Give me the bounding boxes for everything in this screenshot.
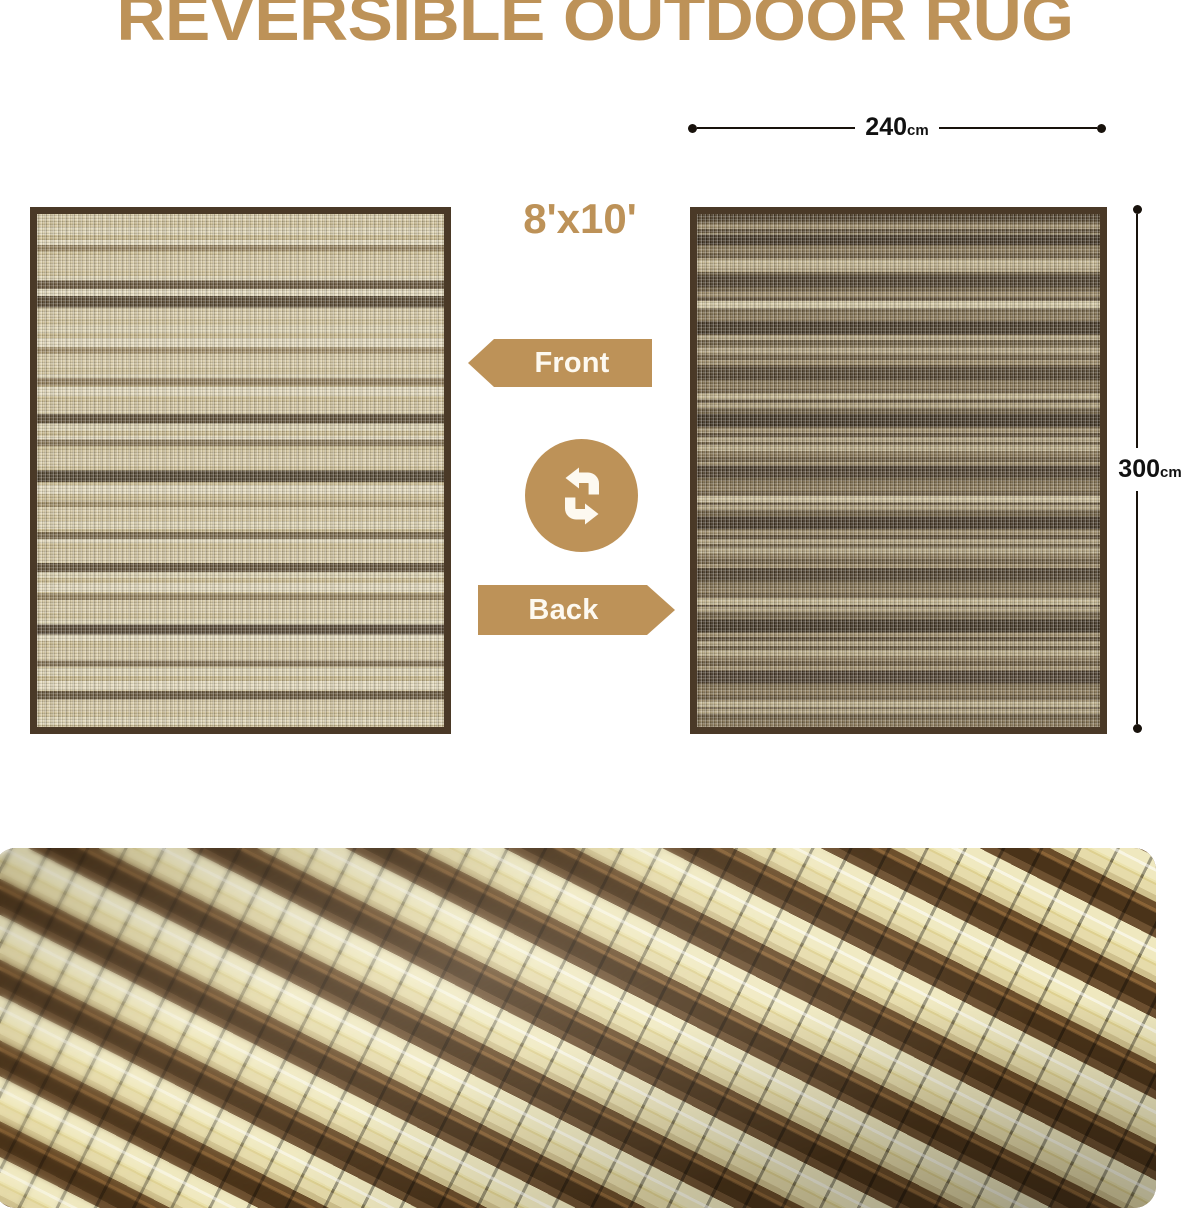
height-unit: cm	[1160, 464, 1182, 481]
back-side-arrow: Back	[478, 585, 675, 635]
width-unit: cm	[907, 122, 929, 139]
weave-depth-of-field	[0, 848, 1156, 1208]
dimension-rule-left	[697, 127, 855, 129]
size-label: 8'x10'	[440, 198, 720, 240]
dimension-end-dot-top	[1133, 205, 1142, 214]
width-dimension: 240cm	[688, 119, 1106, 137]
front-side-arrow: Front	[468, 339, 652, 387]
front-side-label: Front	[534, 347, 609, 380]
reverse-arrows-icon	[547, 461, 617, 531]
width-value: 240	[865, 113, 907, 141]
height-value: 300	[1118, 455, 1160, 483]
dimension-rule-bottom	[1136, 491, 1138, 725]
front-rug-weave-cells	[37, 214, 444, 727]
dimension-rule-right	[939, 127, 1097, 129]
back-rug-weave	[697, 214, 1100, 727]
dimension-rule-top	[1136, 214, 1138, 448]
front-rug-weave	[37, 214, 444, 727]
dimension-end-dot-bottom	[1133, 724, 1142, 733]
page-title: REVERSIBLE OUTDOOR RUG	[0, 0, 1190, 51]
weave-closeup-photo	[0, 848, 1156, 1208]
back-side-label: Back	[528, 594, 598, 627]
dimension-end-dot-left	[688, 124, 697, 133]
height-dimension-label: 300cm	[1118, 448, 1181, 491]
back-rug-weave-cells	[697, 214, 1100, 727]
back-rug-swatch	[690, 207, 1107, 734]
reversible-badge	[525, 439, 638, 552]
dimension-end-dot-right	[1097, 124, 1106, 133]
width-dimension-label: 240cm	[855, 115, 938, 140]
front-rug-swatch	[30, 207, 451, 734]
height-dimension: 300cm	[1128, 205, 1146, 733]
